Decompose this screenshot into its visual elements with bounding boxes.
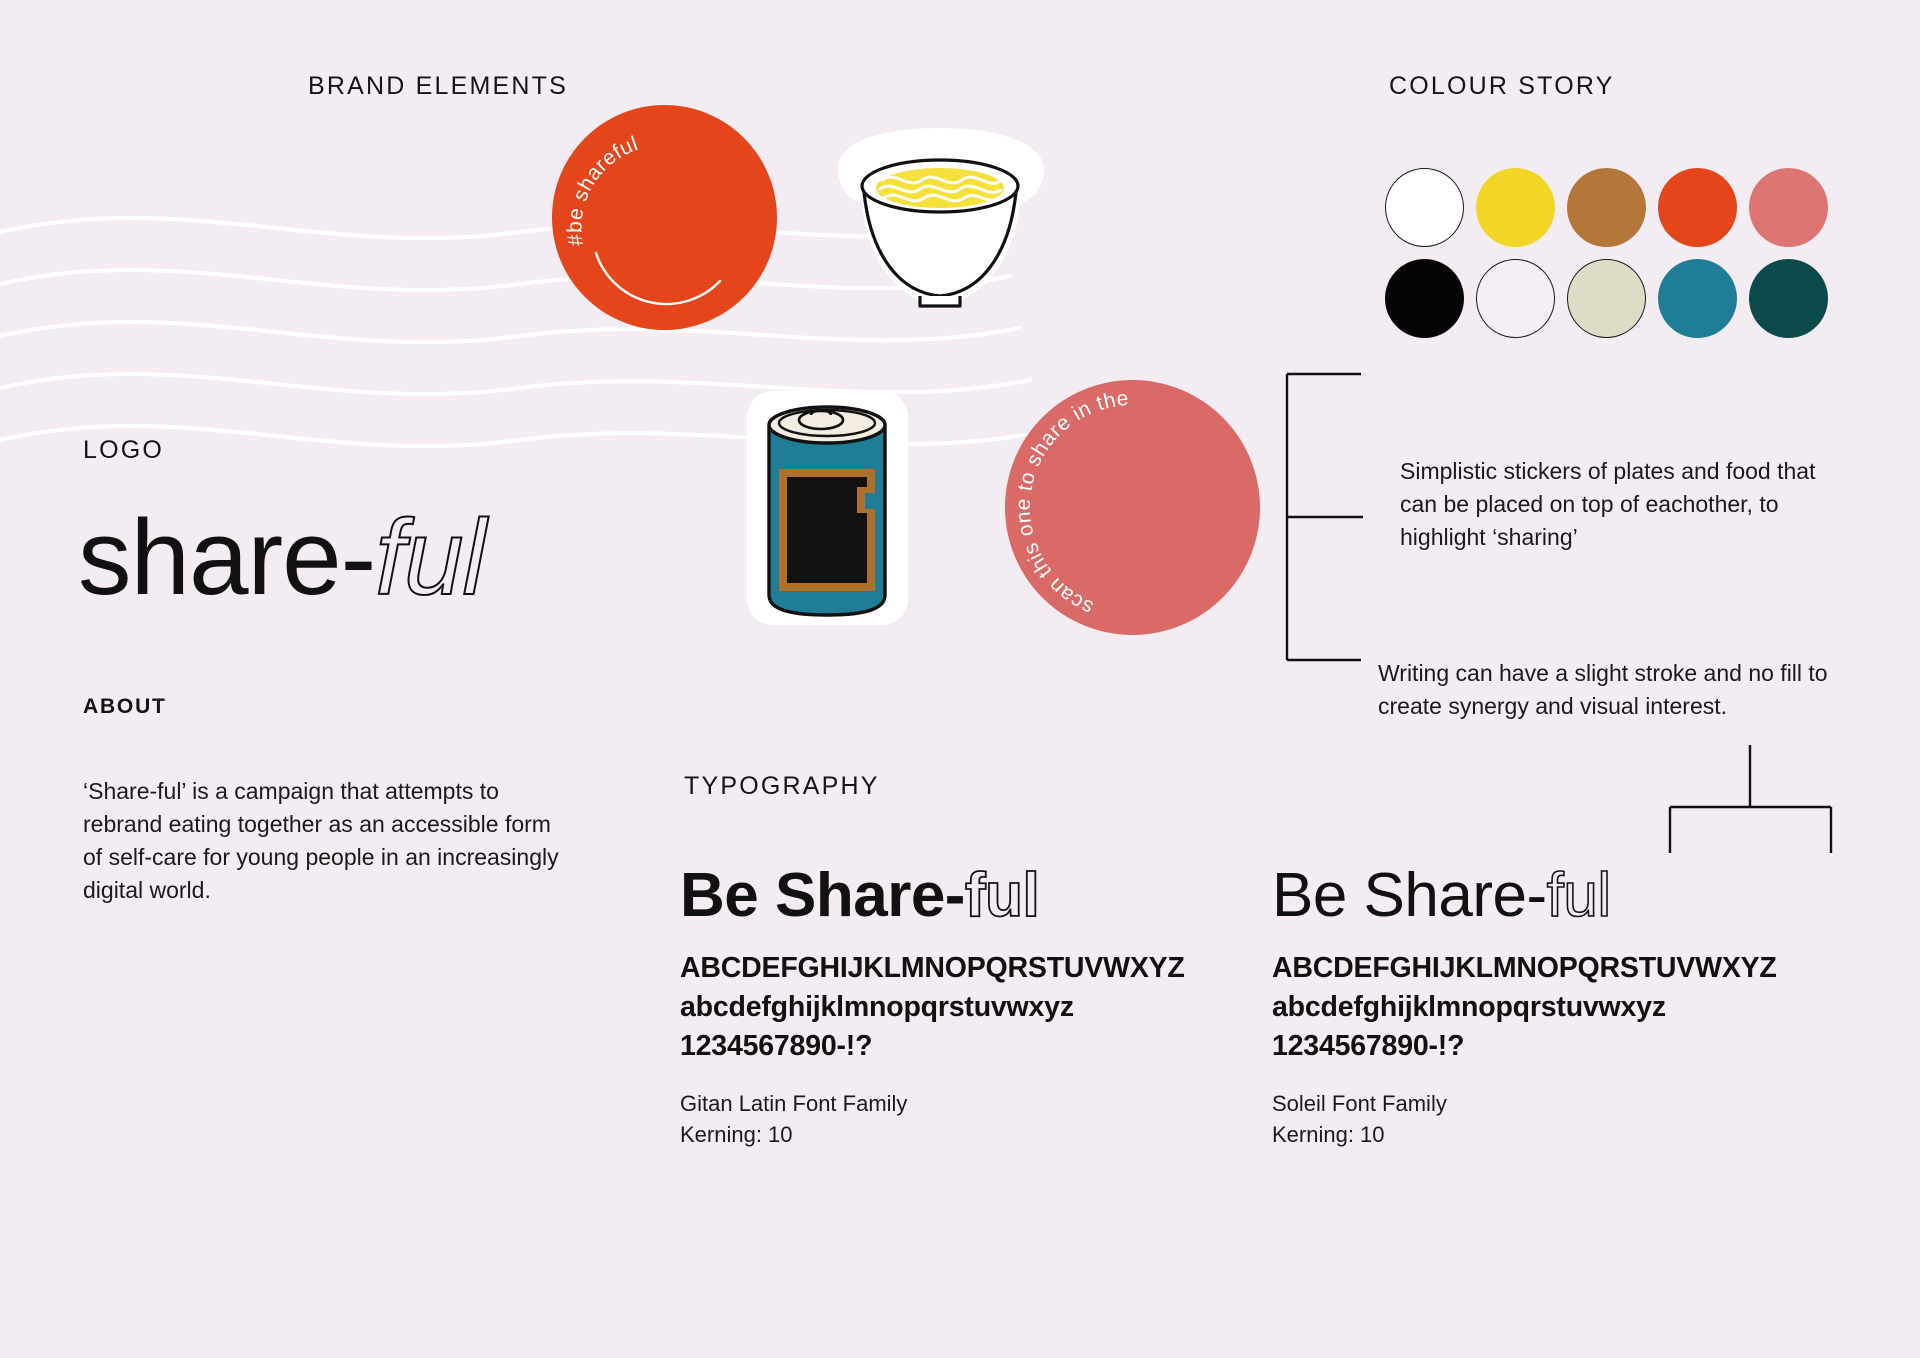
annotation-stroke-note: Writing can have a slight stroke and no …: [1378, 657, 1828, 723]
swatch-yellow[interactable]: [1476, 168, 1555, 247]
type-specimen-soleil: Be Share-ful ABCDEFGHIJKLMNOPQRSTUVWXYZ …: [1272, 860, 1852, 1150]
specimen-kerning-label: Kerning: 10: [680, 1119, 1260, 1150]
specimen-headline: Be Share-ful: [1272, 860, 1852, 931]
specimen-family-label: Gitan Latin Font Family: [680, 1088, 1260, 1119]
heading-brand-elements: BRAND ELEMENTS: [308, 72, 568, 101]
drink-can-sticker: [735, 383, 920, 633]
badge-curved-text: scan this one to share in the sharing: [1005, 380, 1260, 635]
swatch-off-white-lilac[interactable]: [1476, 259, 1555, 338]
specimen-numerals: 1234567890-!?: [1272, 1027, 1852, 1066]
swatch-row-2: [1385, 259, 1830, 338]
type-specimen-gitan: Be Share-ful ABCDEFGHIJKLMNOPQRSTUVWXYZ …: [680, 860, 1260, 1150]
swatch-black[interactable]: [1385, 259, 1464, 338]
brand-style-guide-canvas: BRAND ELEMENTS COLOUR STORY LOGO ABOUT T…: [0, 0, 1920, 1358]
colour-swatch-grid: [1385, 168, 1830, 343]
heading-about: ABOUT: [83, 695, 167, 719]
heading-logo: LOGO: [83, 436, 164, 465]
specimen-headline: Be Share-ful: [680, 860, 1260, 931]
be-shareful-badge: #be shareful: [552, 105, 777, 330]
specimen-glyph-set: ABCDEFGHIJKLMNOPQRSTUVWXYZ abcdefghijklm…: [680, 949, 1260, 1066]
svg-text:scan this one to share in the: scan this one to share in the sharing: [1005, 380, 1130, 619]
svg-text:#be shareful: #be shareful: [563, 132, 641, 247]
heading-typography: TYPOGRAPHY: [684, 772, 880, 801]
stroke-note-bracket: [1668, 745, 1833, 855]
swatch-white[interactable]: [1385, 168, 1464, 247]
specimen-uppercase: ABCDEFGHIJKLMNOPQRSTUVWXYZ: [680, 949, 1260, 988]
swatch-row-1: [1385, 168, 1830, 247]
badge-curved-text: #be shareful: [552, 105, 777, 330]
about-paragraph: ‘Share-ful’ is a campaign that attempts …: [83, 775, 563, 907]
sticker-note-bracket: [1283, 372, 1363, 662]
logo-outline-text: ful: [375, 497, 485, 617]
noodle-bowl-sticker: [820, 120, 1060, 320]
swatch-cream-beige[interactable]: [1567, 259, 1646, 338]
logo-lockup: share-ful: [78, 495, 485, 619]
swatch-salmon-rose[interactable]: [1749, 168, 1828, 247]
specimen-headline-solid: Be Share-: [1272, 861, 1547, 930]
specimen-meta: Gitan Latin Font Family Kerning: 10: [680, 1088, 1260, 1150]
specimen-uppercase: ABCDEFGHIJKLMNOPQRSTUVWXYZ: [1272, 949, 1852, 988]
specimen-lowercase: abcdefghijklmnopqrstuvwxyz: [680, 988, 1260, 1027]
specimen-numerals: 1234567890-!?: [680, 1027, 1260, 1066]
specimen-glyph-set: ABCDEFGHIJKLMNOPQRSTUVWXYZ abcdefghijklm…: [1272, 949, 1852, 1066]
specimen-headline-solid: Be Share-: [680, 861, 965, 930]
heading-colour-story: COLOUR STORY: [1389, 72, 1615, 101]
swatch-deep-teal[interactable]: [1749, 259, 1828, 338]
annotation-stickers-note: Simplistic stickers of plates and food t…: [1400, 455, 1840, 554]
logo-solid-text: share-: [78, 497, 375, 617]
specimen-meta: Soleil Font Family Kerning: 10: [1272, 1088, 1852, 1150]
specimen-headline-outline: ful: [1547, 861, 1611, 930]
scan-badge: scan this one to share in the sharing: [1005, 380, 1260, 635]
swatch-orange-red[interactable]: [1658, 168, 1737, 247]
swatch-ochre-brown[interactable]: [1567, 168, 1646, 247]
specimen-family-label: Soleil Font Family: [1272, 1088, 1852, 1119]
specimen-lowercase: abcdefghijklmnopqrstuvwxyz: [1272, 988, 1852, 1027]
specimen-kerning-label: Kerning: 10: [1272, 1119, 1852, 1150]
swatch-teal[interactable]: [1658, 259, 1737, 338]
specimen-headline-outline: ful: [965, 861, 1039, 930]
